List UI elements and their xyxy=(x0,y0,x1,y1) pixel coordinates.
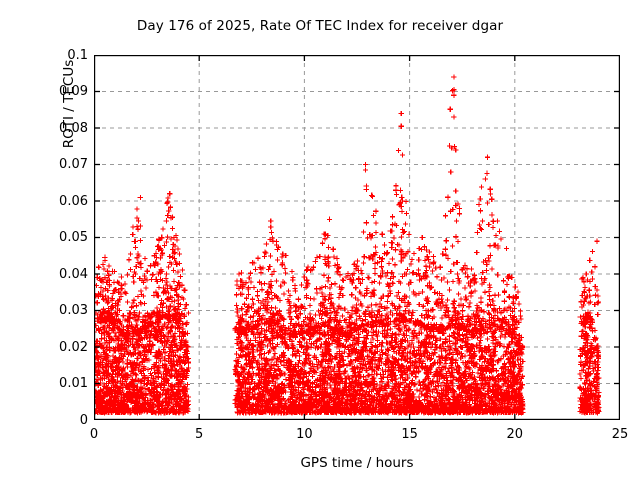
x-axis-title: GPS time / hours xyxy=(94,455,620,471)
x-tick-label: 15 xyxy=(380,428,440,441)
y-tick-label: 0.04 xyxy=(28,268,88,281)
y-tick-label: 0.03 xyxy=(28,304,88,317)
x-tick-label: 25 xyxy=(590,428,640,441)
y-tick-label: 0.02 xyxy=(28,341,88,354)
y-tick-label: 0.09 xyxy=(28,85,88,98)
x-tick-label: 5 xyxy=(169,428,229,441)
y-axis-tick-labels: 00.010.020.030.040.050.060.070.080.090.1 xyxy=(22,55,88,420)
y-tick-label: 0.06 xyxy=(28,195,88,208)
y-tick-label: 0.07 xyxy=(28,158,88,171)
y-tick-label: 0.01 xyxy=(28,377,88,390)
x-axis-tick-labels: 0510152025 xyxy=(94,428,620,448)
plot-area xyxy=(94,55,620,420)
y-tick-label: 0.1 xyxy=(28,49,88,62)
data-points xyxy=(94,74,602,415)
roti-scatter-chart: Day 176 of 2025, Rate Of TEC Index for r… xyxy=(0,0,640,480)
plot-canvas xyxy=(94,55,620,420)
x-tick-label: 10 xyxy=(274,428,334,441)
y-tick-label: 0 xyxy=(28,414,88,427)
chart-title: Day 176 of 2025, Rate Of TEC Index for r… xyxy=(0,18,640,34)
y-tick-label: 0.08 xyxy=(28,122,88,135)
x-tick-label: 0 xyxy=(64,428,124,441)
y-tick-label: 0.05 xyxy=(28,231,88,244)
x-tick-label: 20 xyxy=(485,428,545,441)
